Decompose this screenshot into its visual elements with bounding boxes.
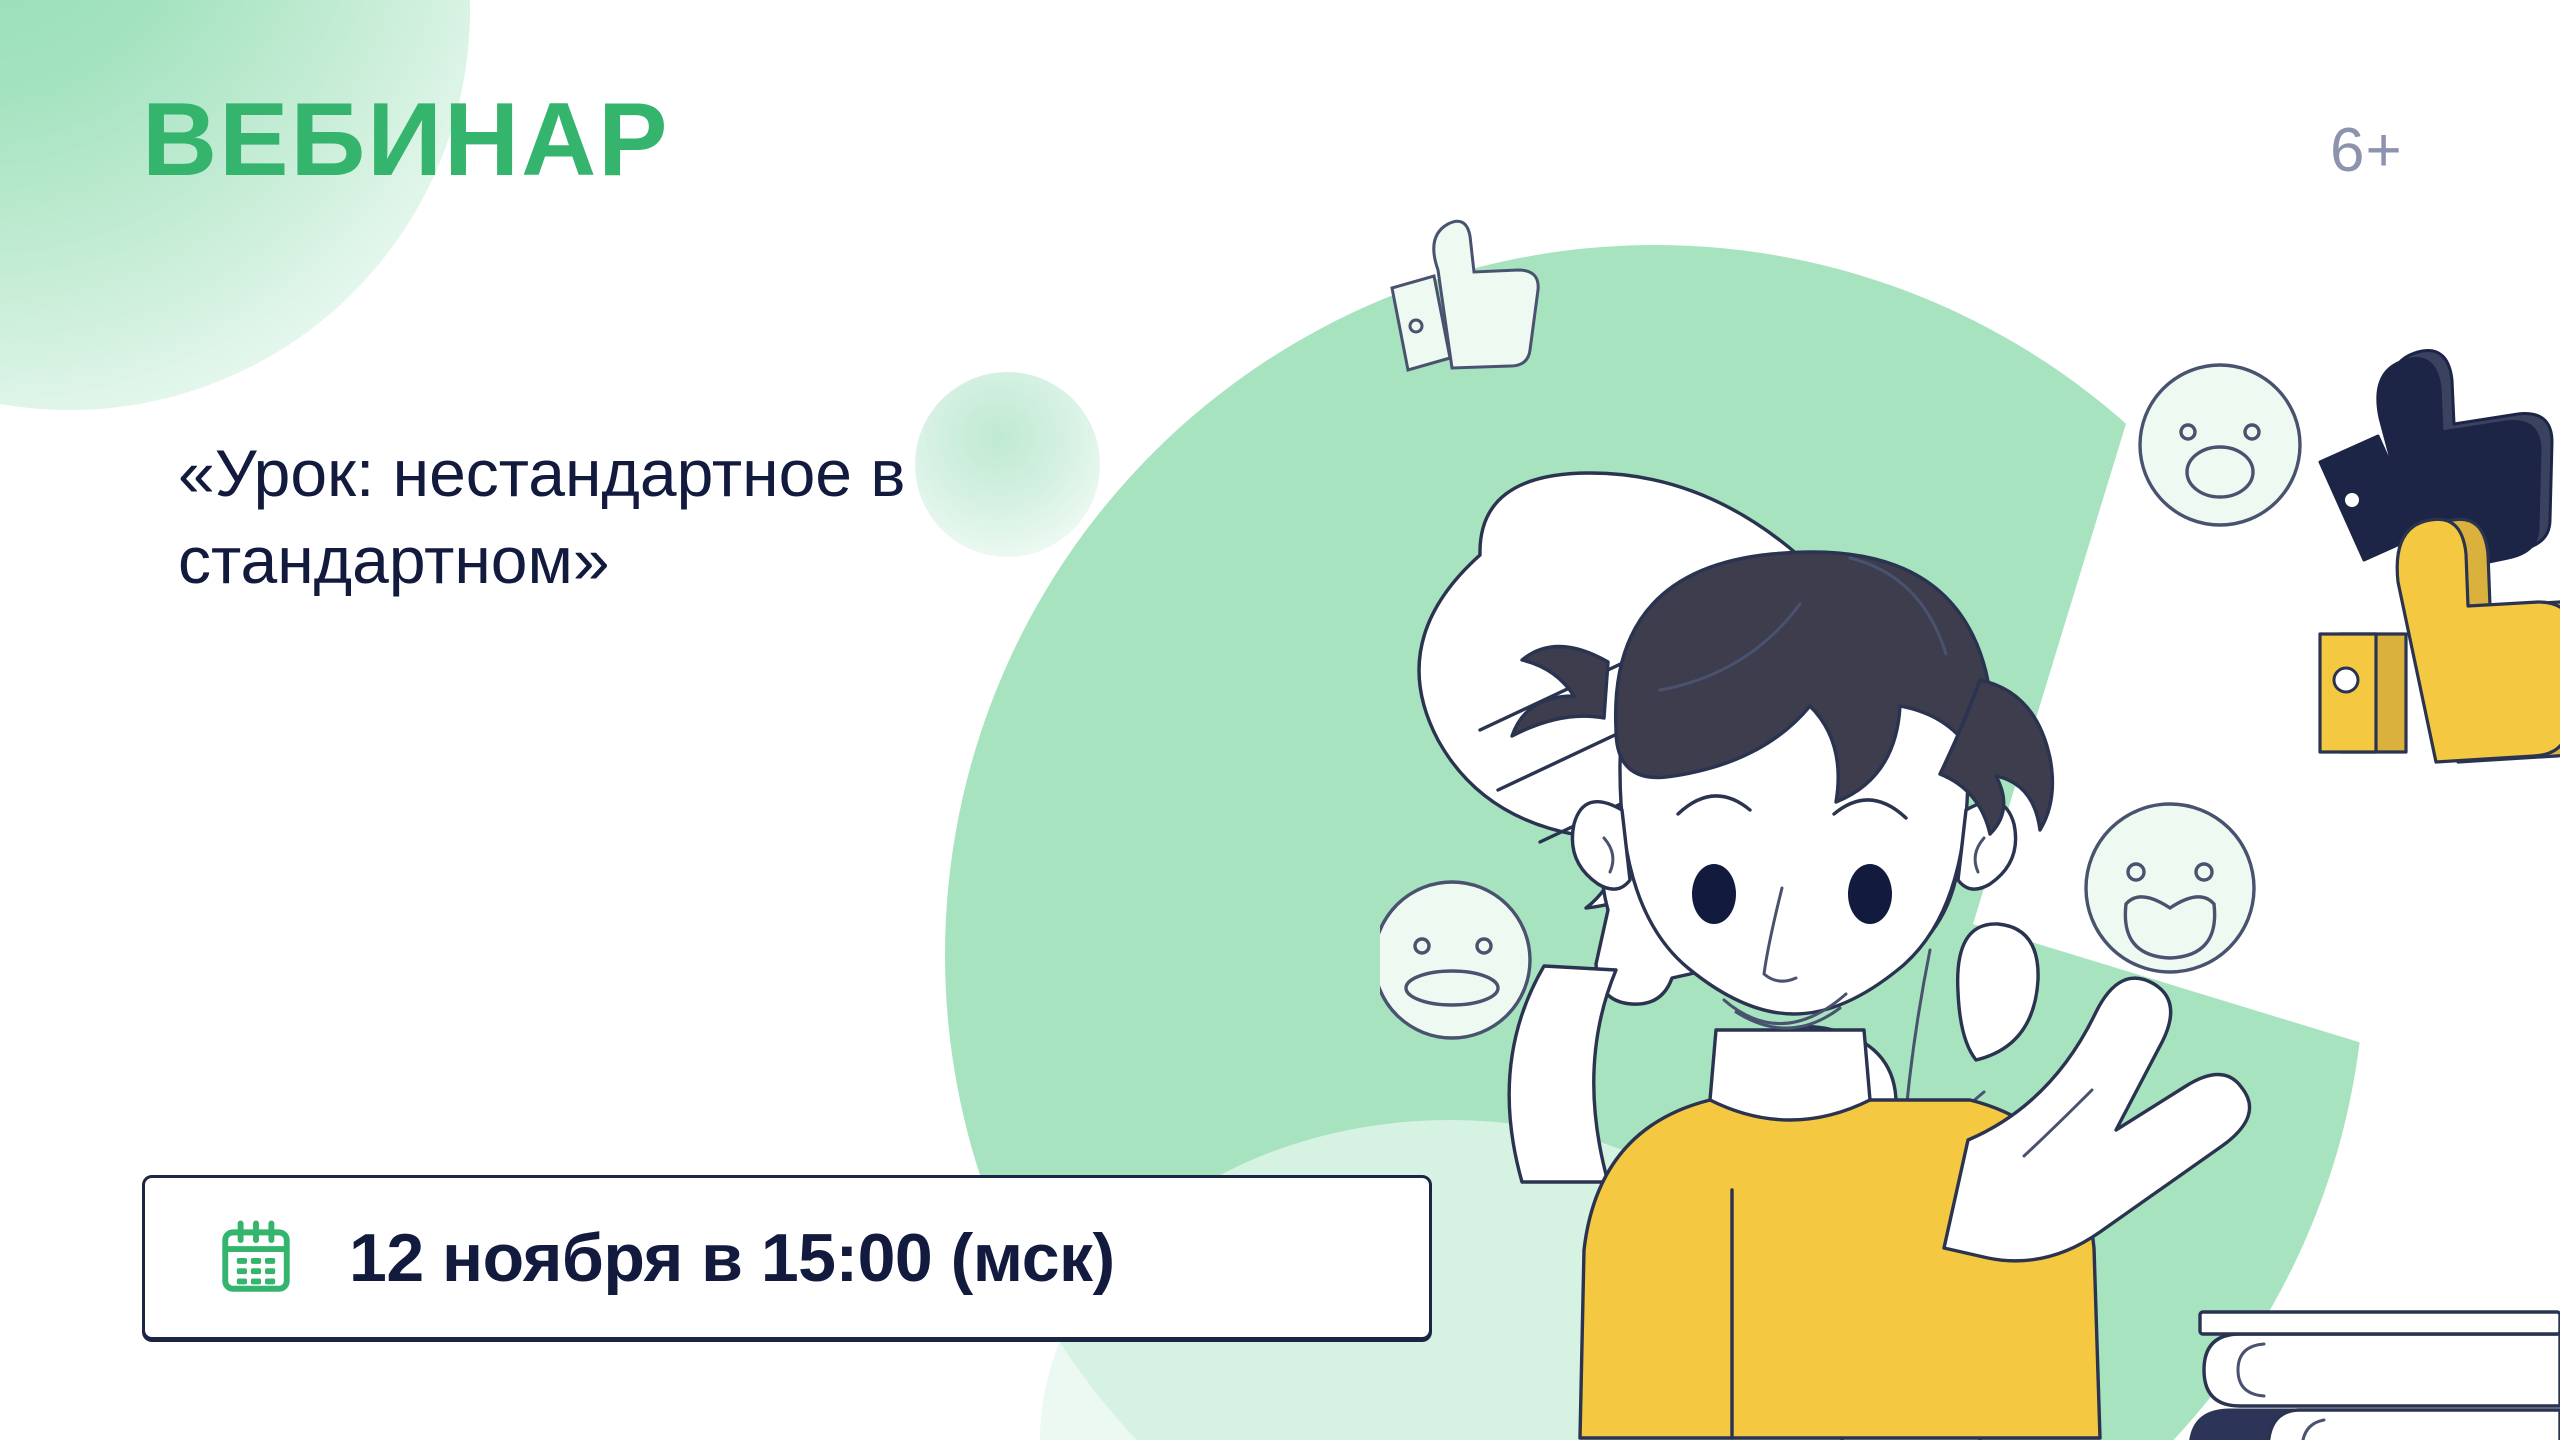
calendar-icon — [215, 1217, 297, 1299]
person-illustration: .ln { fill:none; stroke:#2a3350; stroke-… — [1380, 210, 2560, 1440]
page-title: ВЕБИНАР — [142, 88, 670, 192]
age-rating-badge: 6+ — [2330, 115, 2403, 186]
smiley-surprised-icon — [2140, 365, 2300, 525]
webinar-subtitle: «Урок: нестандартное в стандартном» — [178, 430, 1238, 604]
smiley-neutral-icon — [1380, 882, 1530, 1038]
thumbs-up-yellow-icon — [2320, 519, 2560, 762]
date-time-pill[interactable]: 12 ноября в 15:00 (мск) — [142, 1175, 1432, 1340]
smiley-grin-icon — [2086, 804, 2254, 972]
green-blob-top-left — [0, 0, 470, 410]
webinar-banner: .ln { fill:none; stroke:#2a3350; stroke-… — [0, 0, 2560, 1440]
book-stack — [2172, 1312, 2560, 1440]
date-time-label: 12 ноября в 15:00 (мск) — [349, 1219, 1115, 1297]
thumbs-up-outline-icon — [1392, 221, 1538, 370]
person-character — [1509, 552, 2249, 1438]
